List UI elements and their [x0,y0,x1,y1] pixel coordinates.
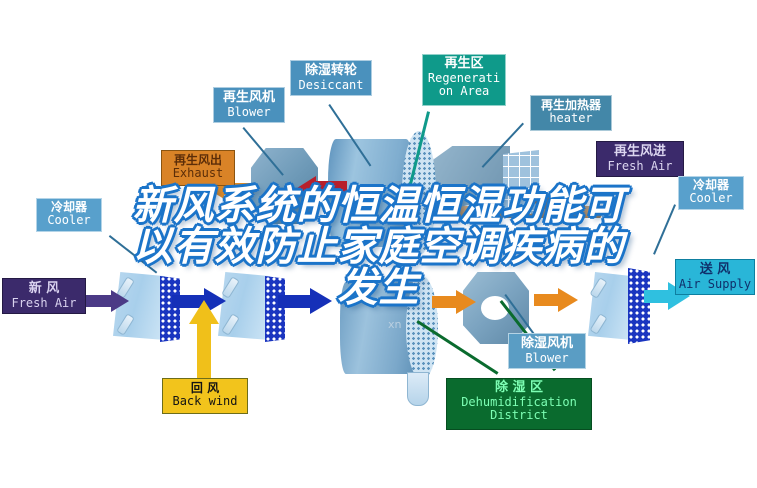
label-cn: 除湿转轮 [291,64,371,79]
label-en: Fresh Air [597,160,683,173]
label-en: Desiccant [291,79,371,92]
label-regen-blower[interactable]: 再生风机 Blower [213,87,285,123]
caption-line-2: 以有效防止家庭空调疾病的 [0,227,757,268]
label-en: Regenerati [423,72,505,85]
caption-line-1: 新风系统的恒温恒湿功能可 [0,186,757,227]
label-dehum-district[interactable]: 除 湿 区 Dehumidification District [446,378,592,430]
label-en: Back wind [163,395,247,408]
label-cn: 再生加热器 [531,99,611,112]
caption-overlay: 新风系统的恒温恒湿功能可 以有效防止家庭空调疾病的 发生 [0,186,757,309]
label-cn: 再生区 [423,57,505,72]
diagram-canvas: xn [0,0,757,488]
label-en: Blower [214,106,284,119]
wheel-drain-stub [407,372,429,406]
label-en: Dehumidification [447,396,591,409]
label-en: Exhaust [162,167,234,180]
label-en-2: on Area [423,85,505,98]
label-en: Blower [509,352,585,365]
watermark-text: xn [388,318,401,331]
label-cn: 除 湿 区 [447,381,591,396]
label-desiccant[interactable]: 除湿转轮 Desiccant [290,60,372,96]
label-cn: 再生风机 [214,91,284,106]
label-cn: 除湿风机 [509,337,585,352]
label-regen-exhaust[interactable]: 再生风出 Exhaust [161,150,235,186]
label-regen-fresh-in[interactable]: 再生风进 Fresh Air [596,141,684,177]
label-en-2: District [447,409,591,422]
arrow-back-wind-up [189,300,219,382]
label-regen-heater[interactable]: 再生加热器 heater [530,95,612,131]
label-regen-area[interactable]: 再生区 Regenerati on Area [422,54,506,106]
label-cn: 回 风 [163,382,247,395]
label-en: heater [531,112,611,125]
label-cn: 再生风进 [597,145,683,160]
caption-line-3: 发生 [0,268,757,309]
label-back-wind[interactable]: 回 风 Back wind [162,378,248,414]
label-dehum-blower[interactable]: 除湿风机 Blower [508,333,586,369]
label-cn: 再生风出 [162,154,234,167]
